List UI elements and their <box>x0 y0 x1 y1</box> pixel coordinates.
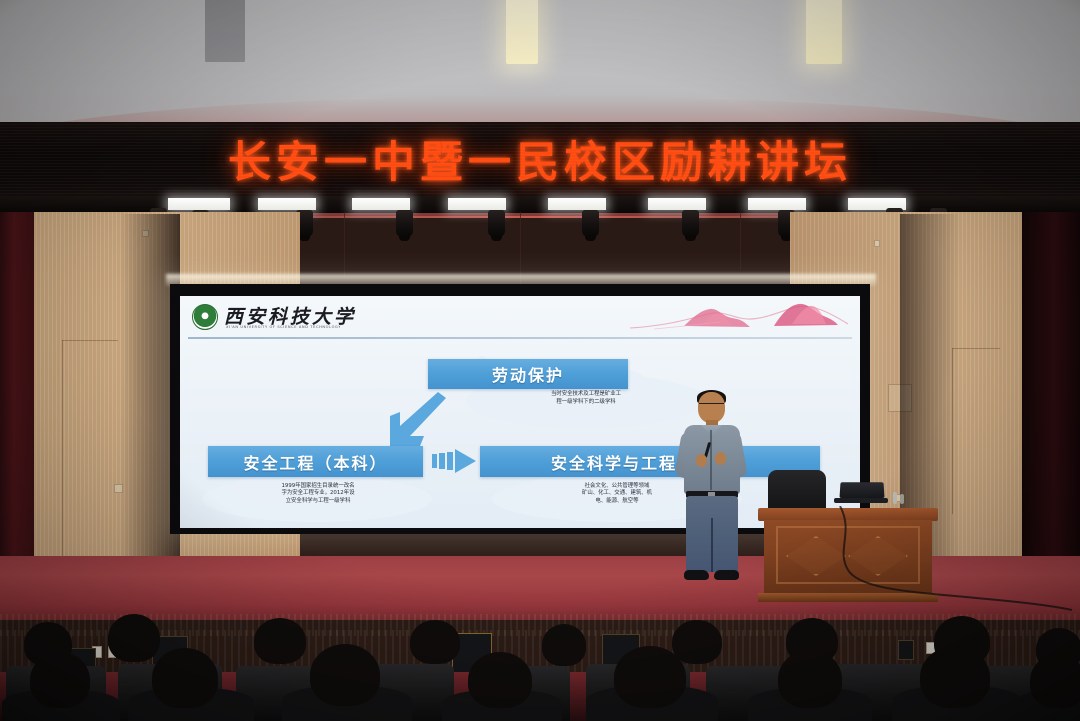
truss-tube-light <box>258 198 316 210</box>
audience-head <box>1030 654 1080 708</box>
truss-tube-light <box>352 198 410 210</box>
ceiling-light-strip <box>506 0 538 64</box>
university-name-english: XI'AN UNIVERSITY OF SCIENCE AND TECHNOLO… <box>226 325 341 329</box>
audience-head <box>108 614 160 662</box>
stage-spotlight <box>682 210 699 237</box>
wall-outlet-plate <box>874 240 880 247</box>
presenter-shoe-left <box>684 570 709 580</box>
presenter-figure <box>668 392 754 588</box>
stage-spotlight <box>488 210 505 237</box>
audience-head <box>672 620 722 664</box>
audience-head <box>152 648 218 708</box>
ceiling-light-strip <box>806 0 842 64</box>
auditorium-photo: 长安一中暨一民校区励耕讲坛 <box>0 0 1080 721</box>
light-cable <box>740 212 741 270</box>
wall-speaker <box>898 640 914 660</box>
presentation-slide: 西安科技大学 XI'AN UNIVERSITY OF SCIENCE AND T… <box>180 296 860 528</box>
audience-head <box>614 646 686 708</box>
audience-head <box>468 652 532 708</box>
stage-curtain-left <box>0 212 34 564</box>
microphone-holder <box>900 494 904 504</box>
truss-tube-light <box>448 198 506 210</box>
microphone-holder <box>893 492 897 504</box>
ceiling-panel <box>205 0 245 62</box>
mountain-decoration-icon <box>624 300 854 334</box>
glasses-icon <box>699 403 724 408</box>
arrow-down-left-icon <box>380 392 452 448</box>
slide-box-labor-protection: 劳动保护 <box>428 359 628 389</box>
university-seal-icon <box>192 304 218 330</box>
cloud-text-bottom-left: 1999年国家招生目录统一改名 字为安全工程专业，2012年设 立安全科学与工程… <box>216 483 420 505</box>
audience-head <box>310 644 380 706</box>
projection-screen: 西安科技大学 XI'AN UNIVERSITY OF SCIENCE AND T… <box>170 284 870 534</box>
presenter-shoe-right <box>714 570 739 580</box>
audience-head <box>30 652 90 708</box>
audience-head <box>778 650 842 708</box>
truss-tube-light <box>648 198 706 210</box>
presentation-laptop <box>834 482 888 504</box>
truss-tube-light <box>168 198 230 210</box>
audience-head <box>920 646 990 708</box>
slide-header-divider <box>188 337 852 339</box>
audience-head <box>410 620 460 664</box>
presenter-shirt <box>684 425 740 494</box>
truss-tube-light <box>548 198 606 210</box>
presenter-shirt-placket <box>710 430 712 490</box>
audience-head <box>254 618 306 664</box>
stage-spotlight <box>582 210 599 237</box>
light-cable <box>344 212 345 278</box>
led-banner-text: 长安一中暨一民校区励耕讲坛 <box>0 128 1080 190</box>
presenter-hand-left <box>696 454 707 467</box>
laptop-screen <box>839 482 884 498</box>
slide-header: 西安科技大学 XI'AN UNIVERSITY OF SCIENCE AND T… <box>180 296 860 338</box>
truss-tube-light <box>748 198 806 210</box>
stage-spotlight <box>396 210 413 237</box>
audience-head <box>542 624 586 666</box>
wall-seam <box>62 340 118 341</box>
floor-cable <box>796 506 1076 616</box>
wall-seam <box>62 340 63 560</box>
presenter-leg-seam <box>711 518 713 572</box>
arrow-right-chevron-icon <box>432 449 476 473</box>
laptop-base <box>834 498 888 503</box>
presenter-hand-right <box>715 452 726 465</box>
slide-box-undergraduate: 安全工程（本科） <box>208 446 423 477</box>
led-banner: 长安一中暨一民校区励耕讲坛 <box>0 122 1080 206</box>
